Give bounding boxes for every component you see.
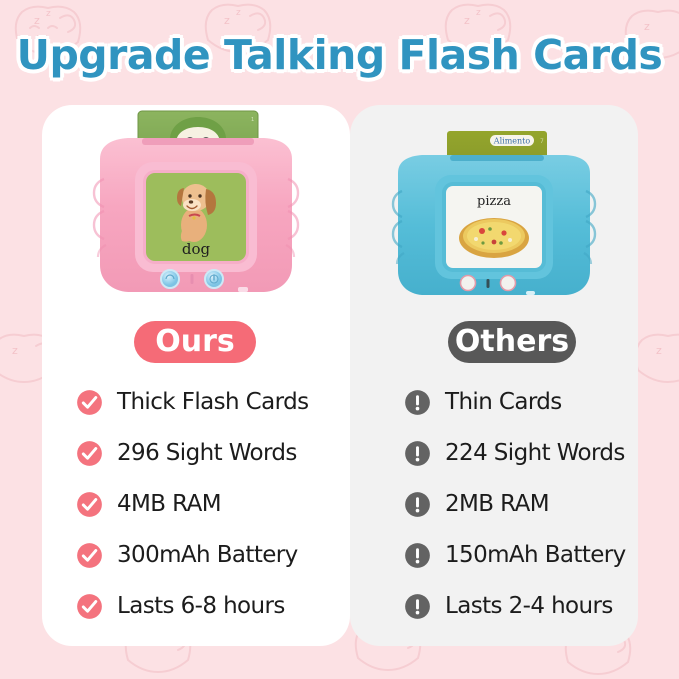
svg-text:z: z	[656, 344, 662, 357]
list-item: 224 Sight Words	[404, 429, 654, 477]
feature-label: 296 Sight Words	[117, 440, 297, 466]
feature-list-others: Thin Cards 224 Sight Words 2MB RAM 150mA…	[404, 378, 654, 633]
list-item: 150mAh Battery	[404, 531, 654, 579]
feature-list-ours: Thick Flash Cards 296 Sight Words 4MB RA…	[76, 378, 346, 633]
feature-label: Lasts 6-8 hours	[117, 593, 285, 619]
badge-others: Others	[448, 321, 576, 363]
svg-text:z: z	[12, 344, 18, 357]
feature-label: 300mAh Battery	[117, 542, 298, 568]
exclamation-circle-icon	[404, 491, 431, 518]
feature-label: 150mAh Battery	[445, 542, 626, 568]
svg-text:pizza: pizza	[477, 194, 511, 209]
device-image-ours: 1	[42, 105, 350, 310]
svg-text:Alimento: Alimento	[493, 137, 531, 146]
check-circle-icon	[76, 491, 103, 518]
badge-ours: Ours	[134, 321, 256, 363]
page-title-container: Upgrade Talking Flash Cards	[0, 24, 679, 86]
list-item: Thick Flash Cards	[76, 378, 346, 426]
list-item: 300mAh Battery	[76, 531, 346, 579]
exclamation-circle-icon	[404, 440, 431, 467]
device-image-others: Alimento 7 pizza pizza	[350, 125, 638, 310]
check-circle-icon	[76, 593, 103, 620]
list-item: Lasts 2-4 hours	[404, 582, 654, 630]
svg-text:dog: dog	[182, 240, 211, 258]
list-item: Thin Cards	[404, 378, 654, 426]
feature-label: 2MB RAM	[445, 491, 549, 517]
list-item: 2MB RAM	[404, 480, 654, 528]
check-circle-icon	[76, 542, 103, 569]
feature-label: 224 Sight Words	[445, 440, 625, 466]
list-item: 296 Sight Words	[76, 429, 346, 477]
svg-text:z: z	[236, 8, 241, 18]
svg-text:z: z	[476, 8, 481, 18]
exclamation-circle-icon	[404, 389, 431, 416]
page-title: Upgrade Talking Flash Cards	[17, 31, 663, 79]
list-item: Lasts 6-8 hours	[76, 582, 346, 630]
screen-card-dog: dog	[146, 173, 246, 261]
feature-label: Thick Flash Cards	[117, 389, 308, 415]
exclamation-circle-icon	[404, 542, 431, 569]
svg-text:7: 7	[540, 138, 544, 145]
screen-card-pizza: pizza	[446, 186, 542, 268]
svg-text:z: z	[46, 9, 51, 19]
svg-text:1: 1	[251, 117, 254, 123]
feature-label: Lasts 2-4 hours	[445, 593, 613, 619]
exclamation-circle-icon	[404, 593, 431, 620]
list-item: 4MB RAM	[76, 480, 346, 528]
feature-label: Thin Cards	[445, 389, 562, 415]
check-circle-icon	[76, 440, 103, 467]
feature-label: 4MB RAM	[117, 491, 221, 517]
check-circle-icon	[76, 389, 103, 416]
